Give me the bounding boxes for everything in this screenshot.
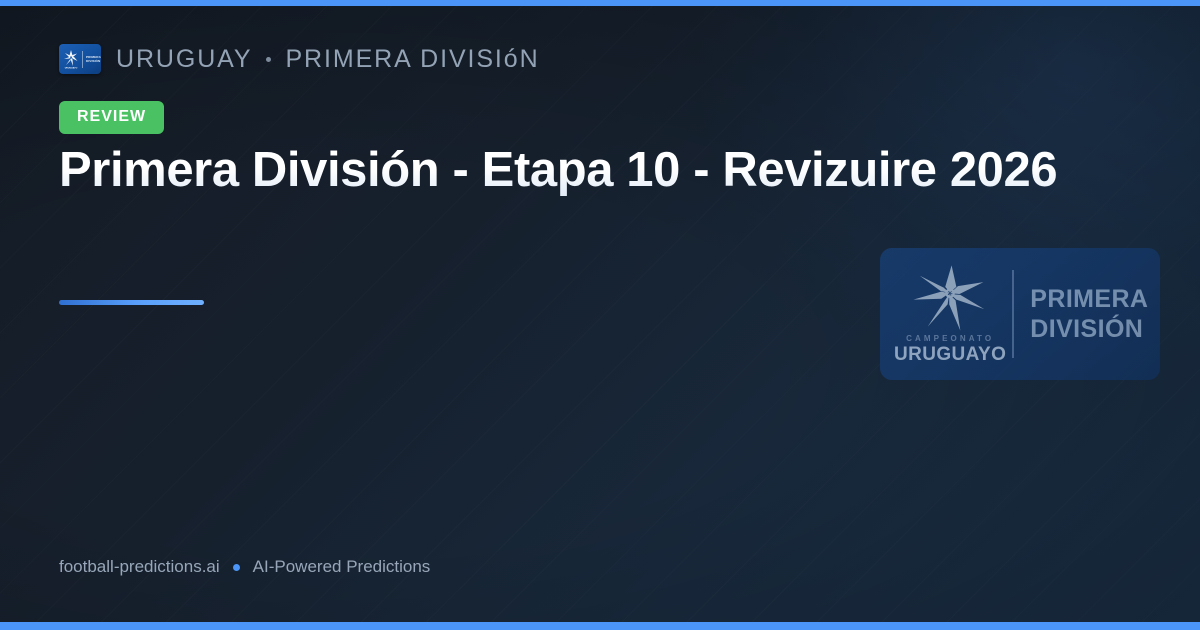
status-badge: REVIEW: [59, 101, 164, 134]
footer: football-predictions.ai AI-Powered Predi…: [59, 557, 430, 577]
logo-campeonato-text: CAMPEONATO: [906, 334, 994, 344]
badge-divider: [82, 51, 83, 68]
league-logo-card: CAMPEONATO URUGUAYO PRIMERA DIVISIÓN: [880, 248, 1160, 380]
badge-line-2: DIVISIÓN: [86, 59, 101, 63]
logo-vertical-divider: [1012, 270, 1014, 358]
breadcrumb-competition: PRIMERA DIVISIóN: [285, 45, 539, 74]
dot-separator-icon: [266, 57, 271, 62]
breadcrumb-text: URUGUAY PRIMERA DIVISIóN: [116, 45, 540, 74]
svg-text:URUGUAYO: URUGUAYO: [65, 67, 78, 70]
primera-division-star-icon: URUGUAYO: [63, 48, 79, 70]
footer-tagline: AI-Powered Predictions: [253, 557, 431, 577]
league-badge-small: URUGUAYO PRIMERA DIVISIÓN: [59, 44, 101, 74]
logo-primera-text: PRIMERA: [1030, 284, 1148, 314]
breadcrumb-country: URUGUAY: [116, 45, 252, 74]
bottom-accent-bar: [0, 622, 1200, 630]
page-title: Primera División - Etapa 10 - Revizuire …: [59, 144, 1069, 197]
footer-site: football-predictions.ai: [59, 557, 220, 577]
league-logo-left: CAMPEONATO URUGUAYO: [894, 258, 1006, 370]
accent-underline: [59, 300, 204, 305]
campeonato-uruguayo-star-icon: [909, 263, 991, 333]
blue-dot-icon: [233, 564, 240, 571]
league-logo-right: PRIMERA DIVISIÓN: [1030, 284, 1148, 344]
top-accent-bar: [0, 0, 1200, 6]
logo-division-text: DIVISIÓN: [1030, 314, 1148, 344]
logo-uruguayo-text: URUGUAYO: [894, 345, 1006, 365]
share-card-canvas: URUGUAYO PRIMERA DIVISIÓN URUGUAY PRIMER…: [0, 0, 1200, 630]
breadcrumb: URUGUAYO PRIMERA DIVISIÓN URUGUAY PRIMER…: [59, 44, 540, 74]
